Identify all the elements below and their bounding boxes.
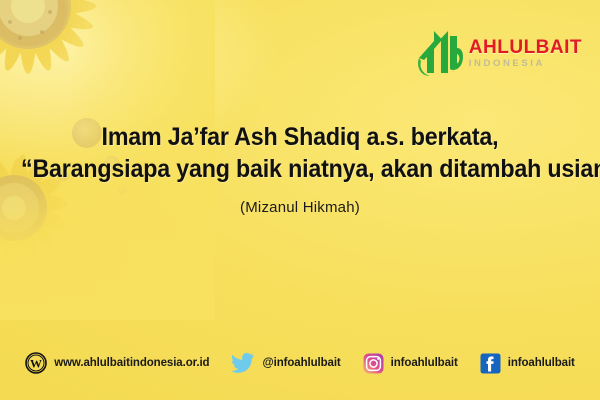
- social-link-website[interactable]: W www.ahlulbaitindonesia.or.id: [25, 352, 209, 374]
- social-label-instagram: infoahlulbait: [391, 357, 458, 369]
- social-links-bar: W www.ahlulbaitindonesia.or.id @infoahlu…: [0, 352, 600, 374]
- instagram-icon: [363, 353, 384, 374]
- ahlulbait-ab-monogram-icon: [417, 28, 465, 78]
- quote-source: (Mizanul Hikmah): [0, 199, 600, 216]
- quote-line-2: “Barangsiapa yang baik niatnya, akan dit…: [21, 152, 579, 186]
- quote-line-1: Imam Ja’far Ash Shadiq a.s. berkata,: [21, 122, 579, 152]
- svg-text:W: W: [30, 357, 42, 371]
- social-link-facebook[interactable]: infoahlulbait: [480, 353, 575, 374]
- social-label-website: www.ahlulbaitindonesia.or.id: [54, 357, 209, 369]
- logo-wordmark: AHLULBAIT INDONESIA: [469, 38, 582, 69]
- social-label-facebook: infoahlulbait: [508, 357, 575, 369]
- wordpress-icon: W: [25, 352, 47, 374]
- brand-logo[interactable]: AHLULBAIT INDONESIA: [417, 28, 582, 78]
- social-link-twitter[interactable]: @infoahlulbait: [231, 352, 340, 374]
- social-link-instagram[interactable]: infoahlulbait: [363, 353, 458, 374]
- logo-title: AHLULBAIT: [469, 38, 582, 57]
- twitter-bird-icon: [231, 352, 255, 374]
- quote-block: Imam Ja’far Ash Shadiq a.s. berkata, “Ba…: [0, 122, 600, 216]
- logo-subtitle: INDONESIA: [469, 59, 582, 69]
- facebook-icon: [480, 353, 501, 374]
- quote-poster: AHLULBAIT INDONESIA Imam Ja’far Ash Shad…: [0, 0, 600, 400]
- social-label-twitter: @infoahlulbait: [262, 357, 340, 369]
